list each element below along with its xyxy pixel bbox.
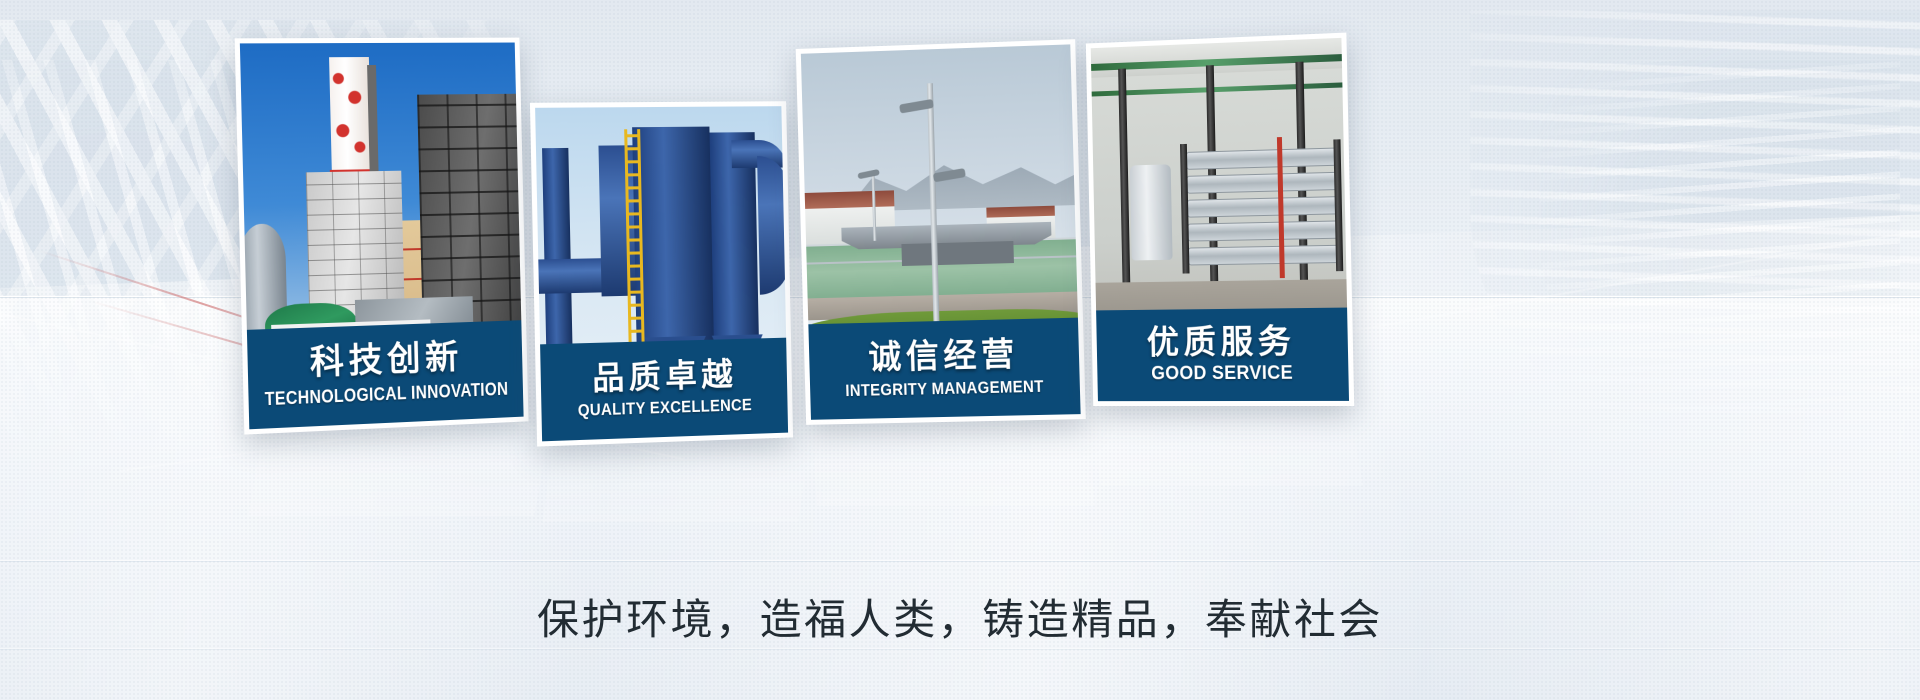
panel-4-title-cn: 优质服务 (1146, 325, 1295, 361)
photo-ro-membrane-3 (1187, 196, 1339, 218)
banner-stage: 科技创新 TECHNOLOGICAL INNOVATION (0, 0, 1920, 700)
tagline: 保护环境，造福人类，铸造精品，奉献社会 (0, 586, 1920, 647)
panel-2-title-en: QUALITY EXCELLENCE (578, 397, 752, 421)
photo-blue-column-left (542, 148, 573, 350)
panel-good-service[interactable]: 优质服务 GOOD SERVICE (1086, 33, 1354, 407)
photo-ro-membrane-2 (1187, 172, 1339, 194)
panel-technological-innovation[interactable]: 科技创新 TECHNOLOGICAL INNOVATION (235, 38, 529, 435)
panel-4-reflection (1087, 406, 1363, 486)
panel-1-reflection (248, 428, 550, 516)
photo-red-spiral-chimney (329, 57, 372, 176)
panel-2-title-cn: 品质卓越 (592, 358, 737, 396)
panel-1-caption: 科技创新 TECHNOLOGICAL INNOVATION (247, 320, 524, 429)
panel-4-title-en: GOOD SERVICE (1151, 364, 1293, 385)
photo-blue-body (632, 127, 714, 346)
photo-bridge-truss (901, 241, 1014, 266)
panel-3-reflection (811, 422, 1095, 506)
panel-2-reflection (542, 442, 809, 522)
panel-1-title-en: TECHNOLOGICAL INNOVATION (264, 380, 508, 410)
panel-4-caption: 优质服务 GOOD SERVICE (1096, 308, 1349, 402)
panel-3-title-cn: 诚信经营 (868, 337, 1019, 375)
panel-3-caption: 诚信经营 INTEGRITY MANAGEMENT (808, 318, 1080, 420)
photo-side-duct (757, 156, 788, 295)
panel-1-title-cn: 科技创新 (309, 340, 463, 382)
panel-quality-excellence[interactable]: 品质卓越 QUALITY EXCELLENCE (530, 101, 793, 446)
panel-integrity-management[interactable]: 诚信经营 INTEGRITY MANAGEMENT (796, 39, 1086, 425)
panel-2-caption: 品质卓越 QUALITY EXCELLENCE (540, 338, 788, 442)
photo-ro-membrane-5 (1188, 245, 1340, 266)
panel-3-title-en: INTEGRITY MANAGEMENT (845, 378, 1044, 401)
photo-ro-membrane-4 (1188, 220, 1340, 241)
photo-dosing-tank (1130, 164, 1173, 260)
